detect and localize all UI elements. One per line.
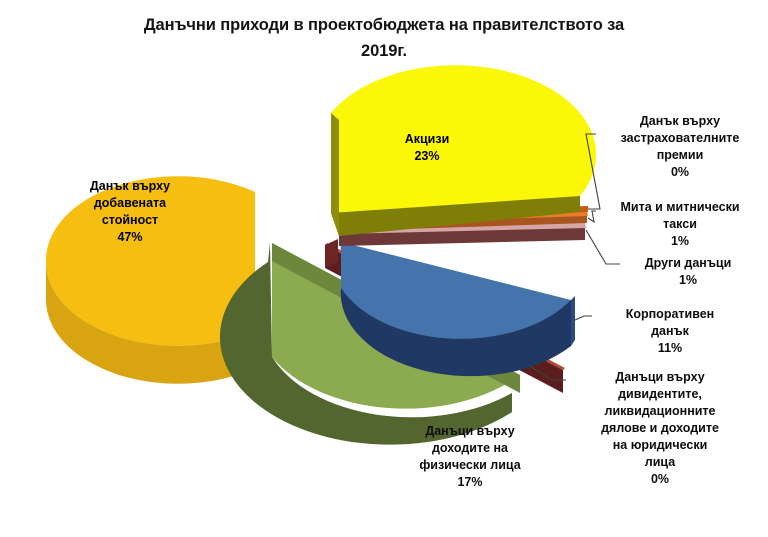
leader-line-customs-duties [588, 211, 596, 222]
data-label-insurance-premium-tax: Данък върху застрахователните премии 0% [596, 113, 764, 181]
pie-slice-corporate-edge [571, 296, 575, 346]
data-label-excise: Акцизи 23% [372, 131, 482, 165]
pie-slice-excise-edge [331, 113, 339, 236]
data-label-other-taxes: Други данъци 1% [612, 255, 764, 289]
data-label-dividends: Данъци върху дивидентите, ликвидационнит… [560, 369, 760, 488]
data-label-personal-income-tax: Данъци върху доходите на физически лица … [390, 423, 550, 491]
data-label-customs-duties: Мита и митнически такси 1% [596, 199, 764, 250]
pie-chart-plot-area: Данък върху добавената стойност 47% Акци… [0, 0, 768, 537]
data-label-vat: Данък върху добавената стойност 47% [50, 178, 210, 246]
data-label-corporate-tax: Корпоративен данък 11% [590, 306, 750, 357]
